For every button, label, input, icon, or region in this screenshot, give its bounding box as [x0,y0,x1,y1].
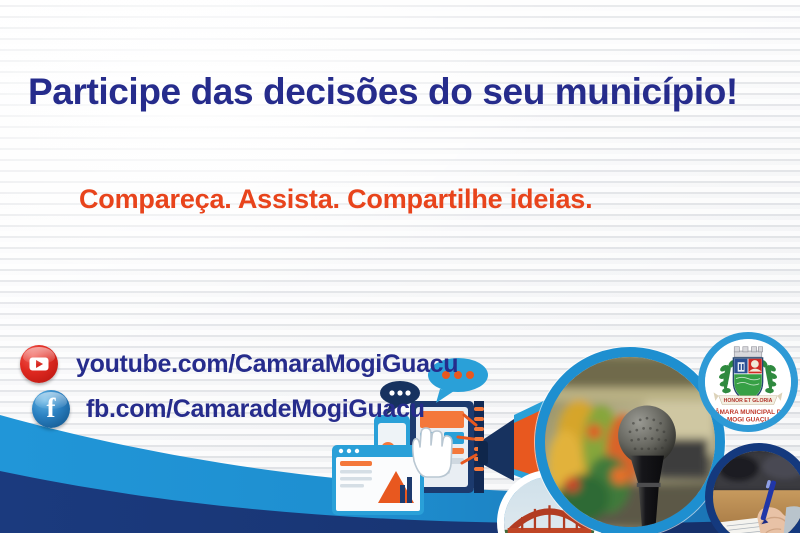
microphone-photo [535,347,725,533]
facebook-icon[interactable]: f [32,390,70,428]
municipal-seal: HONOR ET GLORIA CÂMARA MUNICIPAL DE MOGI… [698,332,798,432]
headline: Participe das decisões do seu município! [28,72,773,113]
seal-line2: MOGI GUAÇU [727,417,769,424]
youtube-icon[interactable] [20,345,58,383]
seal-motto: HONOR ET GLORIA [724,398,773,404]
facebook-handle[interactable]: fb.com/CamaradeMogiGuacu [86,395,425,424]
subheadline: Compareça. Assista. Compartilhe ideias. [79,184,592,215]
social-row-facebook[interactable]: f fb.com/CamaradeMogiGuacu [32,390,425,428]
coat-of-arms-shield [733,358,762,401]
social-row-youtube[interactable]: youtube.com/CamaraMogiGuacu [20,345,458,383]
seal-line1: CÂMARA MUNICIPAL DE [710,407,785,416]
youtube-handle[interactable]: youtube.com/CamaraMogiGuacu [76,350,458,379]
banner-root: Participe das decisões do seu município!… [0,0,800,533]
